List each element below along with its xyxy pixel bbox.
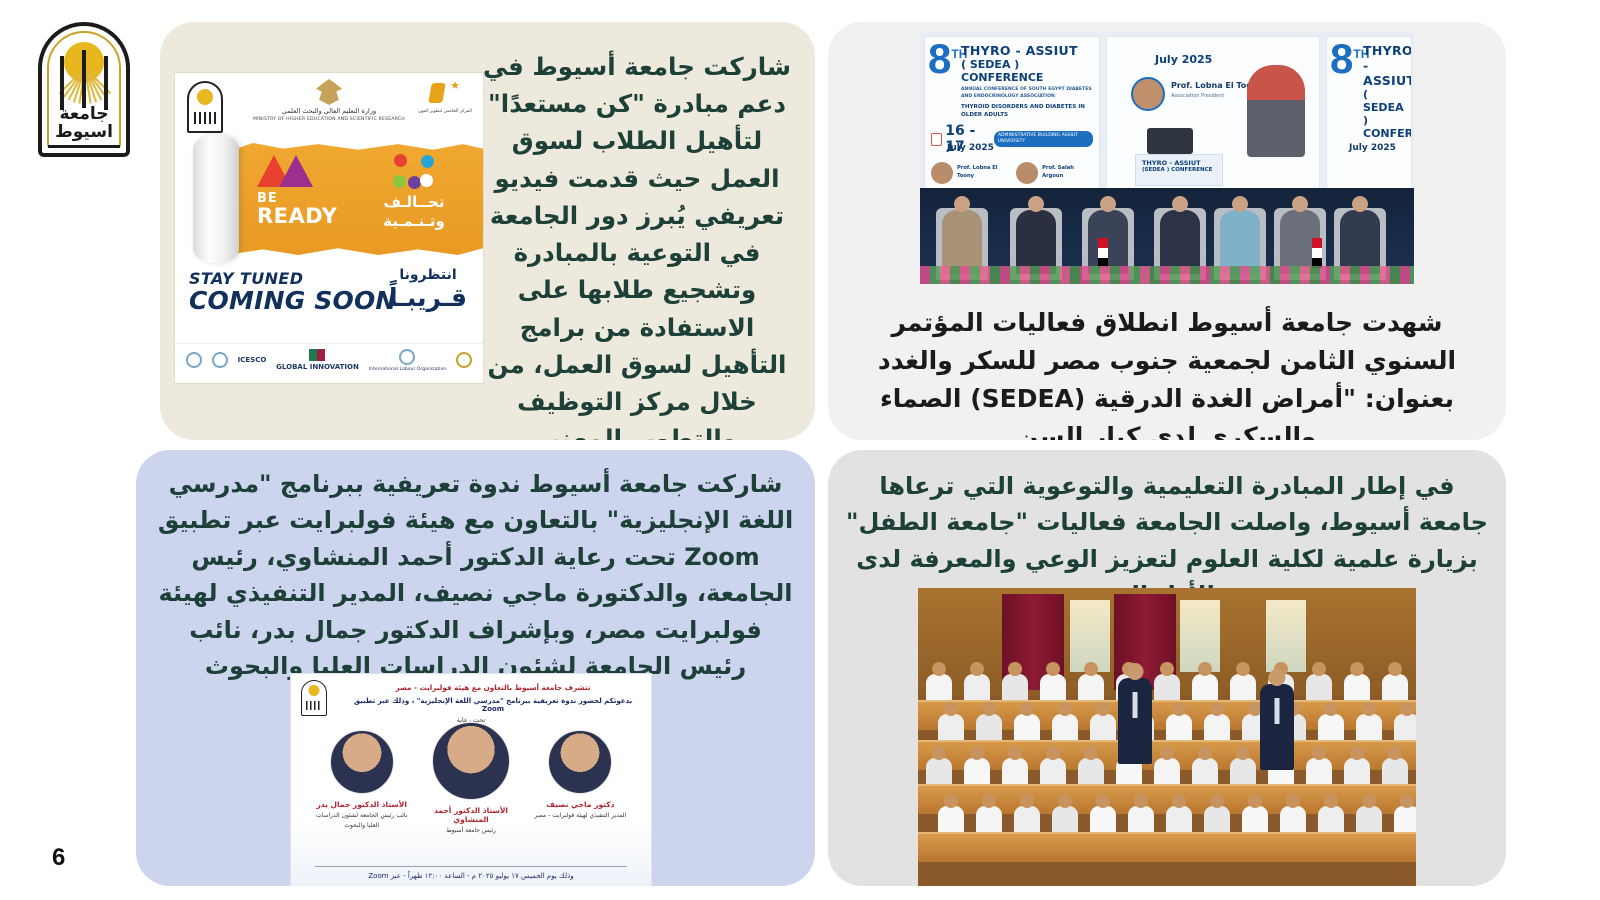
- student-head: [1172, 702, 1186, 716]
- student-head: [1210, 702, 1224, 716]
- student-head: [1198, 662, 1212, 676]
- ucod-mark-icon: [426, 81, 464, 107]
- conference-subtitle-line2: THYROID DISORDERS AND DIABETES IN OLDER …: [961, 103, 1095, 120]
- ilo-label: International Labour Organization: [369, 367, 447, 372]
- person-role: المدير التنفيذي لهيئة فولبرايت - مصر: [532, 811, 628, 821]
- knowledge-foundation-logo: [186, 352, 202, 370]
- avatar: [330, 730, 394, 794]
- screen-sub-banner: THYRO - ASSIUT (SEDEA ) CONFERENCE: [1135, 154, 1223, 186]
- slide-root: جامعة اسيوط 6 وزارة التعليم العالي والبح…: [0, 0, 1600, 900]
- desk-row: [918, 832, 1416, 862]
- foundation-mark-icon: [186, 352, 202, 368]
- conference-panel-stage: [920, 188, 1414, 284]
- paper-roll: [193, 135, 239, 263]
- poster-logo-row: وزارة التعليم العالي والبحث العلمي MINIS…: [175, 79, 483, 135]
- be-ready-initiative-poster: وزارة التعليم العالي والبحث العلمي MINIS…: [174, 72, 484, 384]
- student-head: [1400, 794, 1414, 808]
- student-head: [1312, 746, 1326, 760]
- screen-month-year: July 2025: [1155, 53, 1212, 66]
- be-ready-line2: READY: [257, 206, 343, 227]
- logo-pillar-center: [82, 50, 86, 108]
- conference-month-year-right: July 2025: [1349, 143, 1396, 153]
- brand-arabic-line1: تحــالـف: [359, 193, 469, 212]
- student-head: [1020, 794, 1034, 808]
- coming-soon-arabic: انتظرونا قـريبـاً: [389, 267, 467, 312]
- panelist-head: [1100, 196, 1116, 212]
- card-text-seminar: شاركت جامعة أسيوط ندوة تعريفية ببرنامج "…: [154, 466, 797, 685]
- panelist-head: [1172, 196, 1188, 212]
- person-name: دكتور ماجي نصيف: [532, 800, 628, 809]
- screen-speaker-role: Association President: [1171, 93, 1224, 99]
- panelist: [1160, 210, 1200, 274]
- conference-title-line1: THYRO - ASSIUT: [961, 43, 1095, 58]
- student-head: [1312, 662, 1326, 676]
- student-head: [1362, 702, 1376, 716]
- logo-pillar-right: [104, 56, 108, 110]
- career-center-logo: المركز الجامعي لتطوير المهن: [417, 81, 473, 115]
- gii-label: GLOBAL INNOVATION: [276, 363, 359, 372]
- conference-title-line2: ( SEDEA ) CONFERENCE: [961, 58, 1095, 84]
- avatar: [548, 730, 612, 794]
- coming-soon-label: COMING SOON: [189, 288, 397, 313]
- student-head: [1134, 794, 1148, 808]
- student-head: [970, 746, 984, 760]
- conference-banner-left: 8TH THYRO - ASSIUT ( SEDEA ) CONFERENCE …: [924, 36, 1100, 191]
- egypt-flag-icon: [1312, 238, 1322, 268]
- be-ready-brand: BE READY: [257, 153, 343, 227]
- student-head: [1160, 662, 1174, 676]
- person-role: رئيس جامعة أسيوط: [423, 826, 519, 836]
- news-card-child-university: في إطار المبادرة التعليمية والتوعوية الت…: [828, 450, 1506, 886]
- news-card-seminar: شاركت جامعة أسيوط ندوة تعريفية ببرنامج "…: [136, 450, 815, 886]
- student-head: [982, 794, 996, 808]
- presenter-portrait: [1247, 65, 1305, 157]
- ilo-mark-icon: [399, 349, 415, 365]
- logo-pillar-left: [60, 56, 64, 110]
- student-head: [1210, 794, 1224, 808]
- conference-projection-screen: July 2025 Prof. Lobna El Toony Associati…: [1106, 36, 1320, 191]
- gold-seal-logo: [456, 352, 472, 370]
- student-head: [1058, 702, 1072, 716]
- student-head: [1008, 746, 1022, 760]
- card-text-conference: شهدت جامعة أسيوط انطلاق فعاليات المؤتمر …: [844, 304, 1490, 440]
- avatar: [432, 722, 510, 800]
- necktie: [1275, 698, 1280, 724]
- seminar-datetime-footer: وذلك يوم الخميس ١٧ يوليو ٢٠٢٥ م - الساعة…: [315, 866, 627, 880]
- student-head: [1008, 662, 1022, 676]
- student-head: [1286, 794, 1300, 808]
- news-card-be-ready: وزارة التعليم العالي والبحث العلمي MINIS…: [160, 22, 815, 440]
- seminar-person: الأستاذ الدكتور أحمد المنشاوي رئيس جامعة…: [423, 730, 519, 836]
- calendar-icon: [931, 133, 942, 146]
- ministry-logo: وزارة التعليم العالي والبحث العلمي MINIS…: [249, 79, 409, 123]
- icesco-label: ICESCO: [238, 356, 267, 365]
- panelist-head: [1028, 196, 1044, 212]
- gii-mark-icon: [309, 349, 325, 361]
- panelist: [942, 210, 982, 274]
- logo-base-bar: [48, 145, 120, 148]
- assiut-university-logo-icon: [187, 81, 223, 133]
- conference-banner-right: 8TH THYRO - ASSIUT ( SEDEA ) CONFERENCE …: [1326, 36, 1412, 191]
- seal-icon: [456, 352, 472, 368]
- student-head: [1388, 662, 1402, 676]
- ministry-arabic-label: وزارة التعليم العالي والبحث العلمي: [249, 107, 409, 115]
- student-head: [944, 794, 958, 808]
- conference-subtitle-line1: ANNUAL CONFERENCE OF SOUTH EGYPT DIABETE…: [961, 87, 1095, 101]
- page-number: 6: [52, 844, 65, 872]
- assiut-university-logo-icon: [301, 680, 327, 716]
- staff-head: [1127, 663, 1144, 680]
- student-head: [1400, 702, 1414, 716]
- seminar-person: الأستاذ الدكتور جمال بدر نائب رئيس الجام…: [314, 730, 410, 836]
- child-university-lecture-hall-photo: [918, 588, 1416, 886]
- international-labour-organization-logo: International Labour Organization: [369, 349, 447, 373]
- person-name: الأستاذ الدكتور جمال بدر: [314, 800, 410, 809]
- student-head: [1198, 746, 1212, 760]
- ministry-english-label: MINISTRY OF HIGHER EDUCATION AND SCIENTI…: [249, 117, 409, 123]
- poster-torn-banner: BE READY تحــالـف وتـنـمـية: [175, 135, 483, 263]
- necktie: [1133, 692, 1138, 718]
- icesco-logo: ICESCO: [238, 356, 267, 365]
- conference-presidents-row: Prof. Lobna El Toony Prof. Salah Argoun: [931, 162, 1093, 184]
- student-head: [1020, 702, 1034, 716]
- student-head: [1236, 746, 1250, 760]
- seminar-people-row: دكتور ماجي نصيف المدير التنفيذي لهيئة فو…: [291, 730, 651, 836]
- student-head: [1084, 662, 1098, 676]
- sedea-conference-photo: 8TH THYRO - ASSIUT ( SEDEA ) CONFERENCE …: [920, 32, 1414, 284]
- assiut-university-logo: جامعة اسيوط: [38, 22, 130, 157]
- coming-soon-label-ar: قـريبـاً: [389, 283, 467, 312]
- panelist-head: [1352, 196, 1368, 212]
- student-head: [1350, 746, 1364, 760]
- student-head: [1172, 794, 1186, 808]
- panelist: [1016, 210, 1056, 274]
- avatar: [1016, 162, 1038, 184]
- person-name: الأستاذ الدكتور أحمد المنشاوي: [423, 806, 519, 824]
- avatar: [931, 162, 953, 184]
- seminar-header-line2: بدعوتكم لحضور ندوة تعريفية ببرنامج "مدرس…: [345, 697, 641, 713]
- student-head: [932, 662, 946, 676]
- president-2: Prof. Salah Argoun: [1042, 165, 1093, 181]
- panelist-head: [1232, 196, 1248, 212]
- staff-member: [1118, 678, 1152, 764]
- student-head: [982, 702, 996, 716]
- banner-title-block-right: THYRO - ASSIUT ( SEDEA ) CONFERENCE: [1363, 43, 1407, 140]
- stay-tuned-label-ar: انتظرونا: [389, 267, 467, 283]
- staff-head: [1269, 669, 1286, 686]
- conference-venue: ADMINISTRATIVE BUILDING ASSIUT UNIVERSIT…: [994, 131, 1093, 148]
- panelist: [1088, 210, 1128, 274]
- seminar-person: دكتور ماجي نصيف المدير التنفيذي لهيئة فو…: [532, 730, 628, 836]
- egypt-eagle-icon: [316, 79, 342, 105]
- panelist: [1340, 210, 1380, 274]
- panelist: [1220, 210, 1260, 274]
- staff-member: [1260, 684, 1294, 770]
- student-head: [932, 746, 946, 760]
- student-head: [1160, 746, 1174, 760]
- logo-word-jamia: جامعة: [38, 106, 130, 123]
- student-head: [1362, 794, 1376, 808]
- conference-month-year: July 2025: [947, 143, 994, 153]
- conference-title-line2-right: ( SEDEA ) CONFERENCE: [1363, 88, 1407, 140]
- tahaluf-wa-tanmia-brand: تحــالـف وتـنـمـية: [359, 151, 469, 231]
- student-head: [944, 702, 958, 716]
- laptop-icon: [1147, 128, 1193, 154]
- student-head: [970, 662, 984, 676]
- student-head: [1324, 794, 1338, 808]
- circle-mark-logo: [212, 352, 228, 370]
- screen-sub-title: THYRO - ASSIUT: [1142, 159, 1222, 167]
- president-1: Prof. Lobna El Toony: [957, 165, 1012, 181]
- student-head: [1046, 662, 1060, 676]
- global-innovation-institute-logo: GLOBAL INNOVATION: [276, 349, 359, 372]
- speaker-avatar: [1131, 77, 1165, 111]
- ucod-label: المركز الجامعي لتطوير المهن: [417, 109, 473, 115]
- poster-partner-logos: ICESCO GLOBAL INNOVATION International L…: [175, 343, 483, 377]
- window: [1266, 600, 1306, 672]
- student-head: [1046, 746, 1060, 760]
- seminar-header-line1: تتشرف جامعة أسيوط بالتعاون مع هيئة فولبر…: [345, 683, 641, 692]
- card-text-be-ready: شاركت جامعة أسيوط في دعم مبادرة "كن مستع…: [477, 48, 797, 440]
- student-head: [1096, 794, 1110, 808]
- banner-title-block: THYRO - ASSIUT ( SEDEA ) CONFERENCE ANNU…: [961, 43, 1095, 120]
- be-ready-chevron-icon: [257, 153, 321, 187]
- brand-arabic-line2: وتـنـمـية: [359, 212, 469, 231]
- student-head: [1248, 794, 1262, 808]
- student-head: [1084, 746, 1098, 760]
- student-head: [1350, 662, 1364, 676]
- student-head: [1236, 662, 1250, 676]
- student-head: [1096, 702, 1110, 716]
- student-head: [1324, 702, 1338, 716]
- circle-mark-icon: [212, 352, 228, 368]
- conference-title-line1-right: THYRO - ASSIUT: [1363, 43, 1407, 88]
- news-card-conference: 8TH THYRO - ASSIUT ( SEDEA ) CONFERENCE …: [828, 22, 1506, 440]
- fulbright-zoom-seminar-poster: تتشرف جامعة أسيوط بالتعاون مع هيئة فولبر…: [290, 673, 652, 886]
- student-head: [1388, 746, 1402, 760]
- screen-sub-subtitle: (SEDEA ) CONFERENCE: [1142, 167, 1222, 173]
- panelist-head: [1292, 196, 1308, 212]
- egypt-flag-icon: [1098, 238, 1108, 268]
- panelist-head: [954, 196, 970, 212]
- coming-soon-english: STAY TUNED COMING SOON: [189, 269, 397, 313]
- person-role: نائب رئيس الجامعة لشئون الدراسات العليا …: [314, 811, 410, 830]
- student-head: [1058, 794, 1072, 808]
- flower-decoration: [920, 266, 1414, 284]
- people-circle-icon: [392, 151, 436, 189]
- logo-word-assiut: اسيوط: [38, 124, 130, 141]
- window: [1180, 600, 1220, 672]
- seminar-header: تتشرف جامعة أسيوط بالتعاون مع هيئة فولبر…: [345, 683, 641, 713]
